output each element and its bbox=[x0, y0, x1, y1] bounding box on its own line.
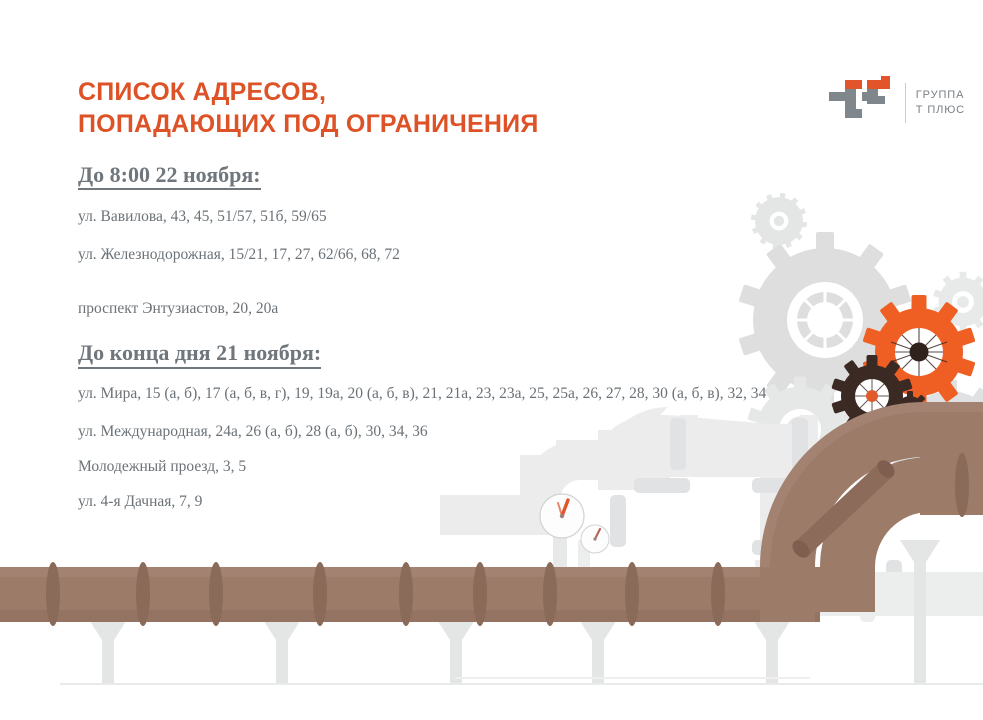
gear-dark-small-icon bbox=[891, 391, 929, 429]
pipe-flanges-right bbox=[955, 453, 969, 517]
poster-canvas: ГРУППА Т ПЛЮС СПИСОК АДРЕСОВ, ПОПАДАЮЩИХ… bbox=[0, 0, 983, 720]
logo-wordmark: ГРУППА Т ПЛЮС bbox=[916, 88, 965, 118]
section-1: До 8:00 22 ноября: bbox=[78, 162, 798, 190]
pipe-supports bbox=[88, 540, 940, 684]
logo-line-2: Т ПЛЮС bbox=[916, 103, 965, 118]
t-plus-logo-mark bbox=[829, 76, 895, 130]
section-2: До конца дня 21 ноября: bbox=[78, 340, 798, 368]
gear-orange-icon bbox=[862, 295, 975, 409]
address-line: ул. Железнодорожная, 15/21, 17, 27, 62/6… bbox=[78, 244, 778, 266]
address-line: Молодежный проезд, 3, 5 bbox=[78, 456, 778, 478]
pipe-body-horizontal bbox=[0, 567, 820, 622]
address-line: ул. Мира, 15 (а, б), 17 (а, б, в, г), 19… bbox=[78, 383, 788, 405]
ghost-gear-lower-right bbox=[891, 380, 983, 500]
gear-dark-icon bbox=[831, 355, 912, 437]
logo-divider bbox=[905, 83, 906, 123]
pressure-gauge-box-icon bbox=[908, 438, 946, 491]
section-1-heading: До 8:00 22 ноября: bbox=[78, 162, 261, 190]
page-title-line-1: СПИСОК АДРЕСОВ, bbox=[78, 76, 539, 108]
section-2-heading: До конца дня 21 ноября: bbox=[78, 340, 321, 368]
pipe-flanges bbox=[46, 562, 725, 626]
address-line: ул. 4-я Дачная, 7, 9 bbox=[78, 491, 778, 513]
section-spacer bbox=[78, 282, 798, 298]
address-line: проспект Энтузиастов, 20, 20а bbox=[78, 298, 778, 320]
logo-line-1: ГРУППА bbox=[916, 88, 965, 103]
page-title-line-2: ПОПАДАЮЩИХ ПОД ОГРАНИЧЕНИЯ bbox=[78, 108, 539, 140]
address-line: ул. Вавилова, 43, 45, 51/57, 51б, 59/65 bbox=[78, 206, 778, 228]
address-list-block: До 8:00 22 ноября: ул. Вавилова, 43, 45,… bbox=[78, 162, 798, 526]
page-title: СПИСОК АДРЕСОВ, ПОПАДАЮЩИХ ПОД ОГРАНИЧЕН… bbox=[78, 76, 539, 140]
ghost-pipe-right-low bbox=[820, 566, 983, 622]
address-line: ул. Международная, 24а, 26 (а, б), 28 (а… bbox=[78, 421, 778, 443]
ghost-gear-small-right bbox=[933, 272, 983, 332]
pipe-elbow-seam bbox=[795, 462, 893, 556]
valve-handwheel-icon bbox=[889, 432, 920, 488]
pipe-body-upper-right bbox=[920, 455, 983, 515]
brand-logo: ГРУППА Т ПЛЮС bbox=[829, 76, 965, 130]
